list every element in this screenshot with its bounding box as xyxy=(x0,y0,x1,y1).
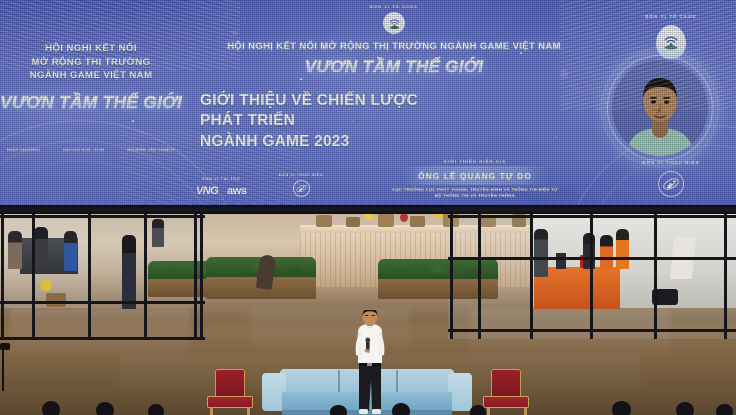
left-meta-venue: ĐỊA ĐIỂM: VNG CAMPUS xyxy=(127,148,175,152)
mullion-h-right-bottom xyxy=(448,329,736,332)
chair-right-leg-2 xyxy=(524,407,527,415)
chair-right-leg-1 xyxy=(487,407,490,415)
mullion-h-right-mid xyxy=(448,257,736,260)
guest-person-3 xyxy=(64,231,77,271)
mullion-right-6 xyxy=(724,214,727,339)
led-wall-bottom-frame xyxy=(0,205,736,214)
staff-person-1 xyxy=(600,235,613,269)
sofa-cushion-seam-1 xyxy=(338,370,340,392)
left-meta-date: NGÀY 10/11/2023 xyxy=(7,148,40,152)
center-executor-tag: ĐƠN VỊ THỰC HIỆN xyxy=(279,173,324,177)
buffet-item-1 xyxy=(316,215,332,227)
abei-lotus-wifi-logo-icon xyxy=(383,12,405,34)
guest-person-standing xyxy=(122,235,136,309)
mullion-h-right-top xyxy=(448,215,736,218)
red-chair-right xyxy=(483,369,531,415)
mullion-h-left-mid xyxy=(0,301,205,304)
buffet-item-4 xyxy=(410,216,425,227)
audience-head-6 xyxy=(470,405,486,415)
mullion-right-5 xyxy=(654,214,657,339)
speaker-role-line-1: CỤC TRƯỞNG CỤC PHÁT THANH, TRUYỀN HÌNH V… xyxy=(350,187,600,194)
chair-left-leg-2 xyxy=(247,407,250,415)
screenshot-root: HỘI NGHỊ KẾT NỐI MỞ RỘNG THỊ TRƯỜNG NGÀN… xyxy=(0,0,736,415)
audience-head-8 xyxy=(676,402,694,415)
speaker-name: ÔNG LÊ QUANG TỰ DO xyxy=(418,171,532,181)
speaker-standing-with-microphone xyxy=(347,310,393,415)
led-video-wall: HỘI NGHỊ KẾT NỐI MỞ RỘNG THỊ TRƯỜNG NGÀN… xyxy=(0,0,736,205)
center-organizer-tag: ĐƠN VỊ TỔ CHỨC xyxy=(182,4,606,9)
guest-person-2 xyxy=(34,227,48,269)
left-meta-time: VÀO LÚC 8:30 - 12:00 xyxy=(63,148,105,152)
guest-person-4 xyxy=(152,219,164,247)
venue-photo-area xyxy=(0,205,736,415)
flower-vase-left xyxy=(40,279,52,291)
audience-head-1 xyxy=(42,401,60,415)
speaker-intro-label: GIỚI THIỆU DIỄN GIẢ xyxy=(350,159,600,164)
left-headline-line-2: MỞ RỘNG THỊ TRƯỜNG xyxy=(0,56,182,70)
audience-head-3 xyxy=(148,404,164,415)
mullion-right-1 xyxy=(450,214,453,339)
mullion-left-2 xyxy=(32,214,35,339)
mullion-right-3 xyxy=(530,214,533,339)
vng-logo-icon: VNG xyxy=(196,185,218,197)
left-headline-line-3: NGÀNH GAME VIỆT NAM xyxy=(0,69,182,83)
registration-item-1 xyxy=(556,253,566,269)
flower-table-left xyxy=(46,293,66,307)
staff-person-3 xyxy=(583,233,595,269)
rocket-globe-logo-icon xyxy=(293,180,310,197)
mullion-left-1 xyxy=(1,214,4,339)
mullion-h-left-top xyxy=(0,215,205,218)
center-subtitle-line-3: NGÀNH GAME 2023 xyxy=(200,132,606,152)
audience-head-9 xyxy=(716,404,733,415)
mullion-right-4 xyxy=(590,214,593,339)
chair-left-backrest xyxy=(215,369,245,397)
staff-person-2 xyxy=(616,229,629,269)
mic-stand-pole xyxy=(2,347,4,391)
led-left-panel: HỘI NGHỊ KẾT NỐI MỞ RỘNG THỊ TRƯỜNG NGÀN… xyxy=(0,0,182,205)
chair-right-backrest xyxy=(491,369,521,397)
led-center-panel: ĐƠN VỊ TỔ CHỨC HỘI NGHỊ KẾT NỐI MỞ RỘNG … xyxy=(182,0,606,205)
guest-person-1 xyxy=(8,231,22,269)
center-sponsor-tag: ĐƠN VỊ TÀI TRỢ xyxy=(196,177,247,181)
chair-left-leg-1 xyxy=(210,407,213,415)
audience-head-4 xyxy=(330,405,347,415)
rocket-globe-logo-icon-right xyxy=(658,171,684,197)
visitor-walking xyxy=(534,229,548,277)
audience-head-5 xyxy=(392,403,410,415)
center-subtitle-line-2: PHÁT TRIỂN xyxy=(200,111,606,131)
mic-stand-head xyxy=(0,343,10,350)
sofa-cushion-seam-2 xyxy=(396,370,398,392)
left-headline-line-1: HỘI NGHỊ KẾT NỐI xyxy=(0,42,182,56)
center-headline: HỘI NGHỊ KẾT NỐI MỞ RỘNG THỊ TRƯỜNG NGÀN… xyxy=(182,41,606,52)
mullion-left-6 xyxy=(200,214,203,339)
speaker-portrait-icon xyxy=(612,60,708,156)
mullion-left-5 xyxy=(194,214,197,339)
mullion-h-left-bottom xyxy=(0,337,205,340)
center-hero-text: VƯƠN TẦM THẾ GIỚI xyxy=(182,57,606,77)
mullion-right-2 xyxy=(478,214,481,339)
speaker-role-line-2: BỘ THÔNG TIN VÀ TRUYỀN THÔNG xyxy=(350,193,600,200)
right-organizer-tag: ĐƠN VỊ TỔ CHỨC xyxy=(606,14,736,19)
flower-arrangement-4 xyxy=(400,213,408,222)
audience-head-7 xyxy=(612,401,631,415)
chair-right-seat xyxy=(483,396,529,408)
buffet-item-3 xyxy=(378,214,394,227)
aws-logo-icon: aws xyxy=(227,185,247,197)
mullion-left-3 xyxy=(88,214,91,339)
left-hero-text: VƯƠN TẦM THẾ GIỚI xyxy=(0,92,182,113)
mullion-left-4 xyxy=(144,214,147,339)
red-chair-left xyxy=(205,369,253,415)
audience-head-2 xyxy=(96,402,114,415)
center-subtitle-line-1: GIỚI THIỆU VỀ CHIẾN LƯỢC xyxy=(200,91,606,111)
buffet-item-2 xyxy=(346,217,360,227)
